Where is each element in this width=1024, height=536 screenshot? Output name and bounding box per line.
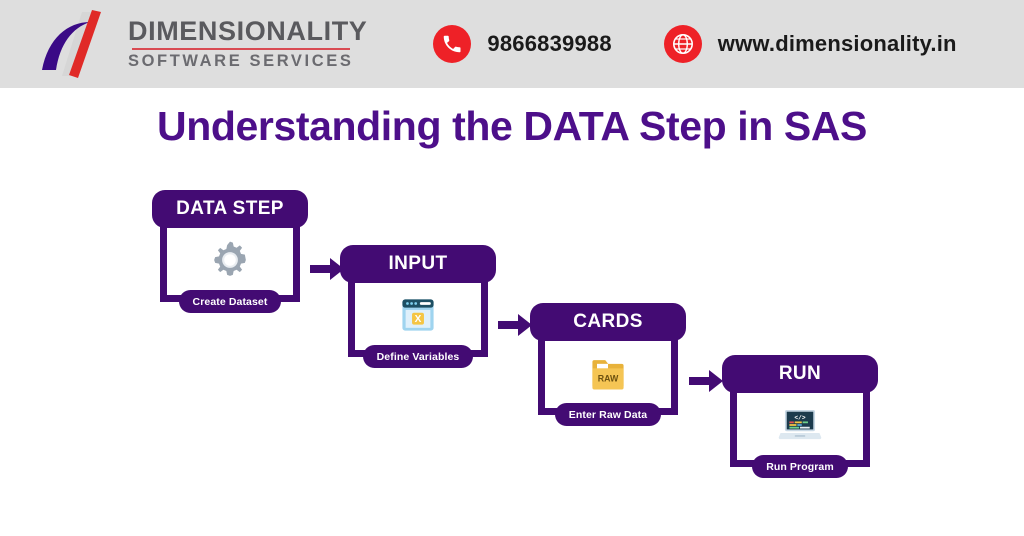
arrow-data-step-to-input-icon xyxy=(310,258,344,285)
spreadsheet-window-icon: X xyxy=(395,292,441,338)
arrow-cards-to-run-icon xyxy=(689,370,723,397)
flow-step-badge: Enter Raw Data xyxy=(555,403,661,426)
flow-step-header: RUN xyxy=(722,355,878,393)
flow-step-input[interactable]: INPUT X Define Variables xyxy=(340,245,496,368)
data-step-flow-diagram: DATA STEP Create Dataset INPUT xyxy=(0,0,1024,536)
flow-step-title: DATA STEP xyxy=(176,198,284,220)
gear-icon xyxy=(207,237,253,283)
laptop-code-icon: </> xyxy=(777,402,823,448)
flow-step-badge-label: Enter Raw Data xyxy=(569,409,647,421)
flow-step-run[interactable]: RUN </> xyxy=(722,355,878,478)
raw-folder-label: RAW xyxy=(598,373,619,383)
flow-step-title: CARDS xyxy=(573,311,643,333)
arrow-input-to-cards-icon xyxy=(498,314,532,341)
flow-step-data-step[interactable]: DATA STEP Create Dataset xyxy=(152,190,308,313)
flow-step-badge-label: Run Program xyxy=(766,461,834,473)
flow-step-header: DATA STEP xyxy=(152,190,308,228)
raw-folder-icon: RAW xyxy=(585,350,631,396)
flow-step-badge: Define Variables xyxy=(363,345,474,368)
flow-step-badge: Create Dataset xyxy=(179,290,282,313)
flow-step-title: RUN xyxy=(779,363,821,385)
flow-step-cards[interactable]: CARDS RAW Enter Raw Data xyxy=(530,303,686,426)
flow-step-title: INPUT xyxy=(389,253,448,275)
svg-text:</>: </> xyxy=(794,414,805,421)
flow-step-badge: Run Program xyxy=(752,455,848,478)
flow-step-badge-label: Define Variables xyxy=(377,351,460,363)
flow-step-header: INPUT xyxy=(340,245,496,283)
svg-text:X: X xyxy=(415,313,422,324)
flow-step-badge-label: Create Dataset xyxy=(193,296,268,308)
flow-step-header: CARDS xyxy=(530,303,686,341)
